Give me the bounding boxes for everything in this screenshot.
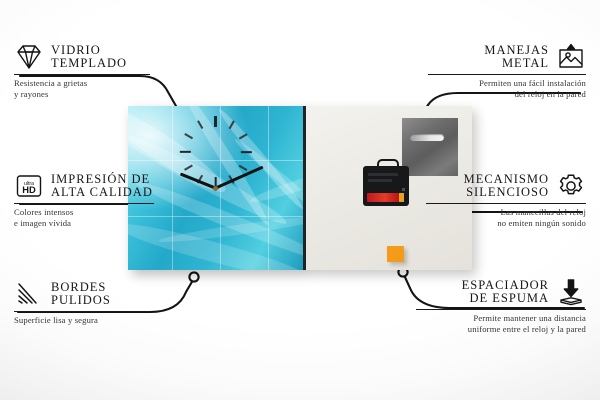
diamond-icon [14, 43, 44, 71]
feature-impresion-alta-calidad: ultra HD IMPRESIÓN DE ALTA CALIDAD Color… [14, 172, 154, 228]
orange-foam-spacer [387, 246, 404, 262]
feature-desc-line1: Resistencia a grietas [14, 78, 87, 88]
feature-desc-line2: e imagen vívida [14, 218, 71, 228]
feature-title: MANEJAS METAL [484, 44, 549, 71]
feature-description: Resistencia a grietas y rayones [14, 78, 150, 99]
feature-title-line1: IMPRESIÓN DE [51, 172, 150, 186]
feature-desc-line2: no emiten ningún sonido [497, 218, 586, 228]
metal-hanger-plate [402, 118, 458, 176]
feature-espaciador-espuma: ESPACIADOR DE ESPUMA Permite mantener un… [416, 278, 586, 334]
arrow-down-layers-icon [556, 278, 586, 306]
movement-hanger-loop [377, 159, 399, 170]
connector-dot-bordes [189, 272, 198, 281]
feature-mecanismo-silencioso: MECANISMO SILENCIOSO Las manecillas del … [426, 172, 586, 228]
diagonal-lines-icon [14, 280, 44, 308]
feature-title-line2: METAL [484, 57, 549, 71]
hanger-slot [410, 134, 444, 141]
feature-desc-line2: y rayones [14, 89, 49, 99]
battery-terminal [399, 193, 404, 202]
feature-title-line2: ALTA CALIDAD [51, 186, 153, 200]
feature-title: MECANISMO SILENCIOSO [464, 173, 549, 200]
feature-title-line1: BORDES [51, 280, 106, 294]
ultra-hd-icon: ultra HD [14, 172, 44, 200]
feature-desc-line1: Permiten una fácil instalación [479, 78, 586, 88]
feature-bordes-pulidos: BORDES PULIDOS Superficie lisa y segura [14, 280, 150, 326]
infographic-canvas: VIDRIO TEMPLADO Resistencia a grietas y … [0, 0, 600, 400]
feature-title: IMPRESIÓN DE ALTA CALIDAD [51, 173, 153, 200]
feature-title-line2: DE ESPUMA [462, 292, 549, 306]
feature-title-line2: SILENCIOSO [464, 186, 549, 200]
feature-divider [14, 203, 154, 204]
feature-title: BORDES PULIDOS [51, 281, 111, 308]
movement-detail [368, 179, 392, 182]
ultra-hd-icon-bottom-text: HD [22, 184, 36, 195]
battery [367, 193, 399, 202]
feature-manejas-metal: MANEJAS METAL Permiten una fácil instala… [428, 43, 586, 99]
feature-title-line1: MANEJAS [484, 43, 549, 57]
feature-description: Colores intensos e imagen vívida [14, 207, 154, 228]
feature-title-line1: ESPACIADOR [462, 278, 549, 292]
feature-title-line1: VIDRIO [51, 43, 101, 57]
feature-divider [14, 311, 150, 312]
feature-title-line1: MECANISMO [464, 172, 549, 186]
feature-divider [428, 74, 586, 75]
feature-divider [14, 74, 150, 75]
feature-desc-line1: Las manecillas del reloj [501, 207, 586, 217]
feature-description: Permite mantener una distancia uniforme … [416, 313, 586, 334]
feature-desc-line1: Colores intensos [14, 207, 73, 217]
feature-title: ESPACIADOR DE ESPUMA [462, 279, 549, 306]
movement-detail [402, 188, 405, 191]
feature-desc-line2: uniforme entre el reloj y la pared [468, 324, 586, 334]
feature-description: Superficie lisa y segura [14, 315, 150, 325]
feature-description: Permiten una fácil instalación del reloj… [428, 78, 586, 99]
feature-title: VIDRIO TEMPLADO [51, 44, 127, 71]
quartz-movement [363, 166, 409, 206]
gear-icon [556, 172, 586, 200]
clock-center-pin [213, 186, 218, 191]
feature-divider [426, 203, 586, 204]
feature-desc-line1: Superficie lisa y segura [14, 315, 98, 325]
movement-detail [368, 173, 398, 176]
clock-face-product-image [128, 106, 306, 270]
picture-frame-icon [556, 43, 586, 71]
turquoise-feather-background [128, 106, 306, 270]
feature-description: Las manecillas del reloj no emiten ningú… [426, 207, 586, 228]
feature-desc-line2: del reloj en la pared [515, 89, 586, 99]
feature-vidrio-templado: VIDRIO TEMPLADO Resistencia a grietas y … [14, 43, 150, 99]
feature-title-line2: PULIDOS [51, 294, 111, 308]
feature-divider [416, 309, 586, 310]
feature-desc-line1: Permite mantener una distancia [473, 313, 586, 323]
feature-title-line2: TEMPLADO [51, 57, 127, 71]
